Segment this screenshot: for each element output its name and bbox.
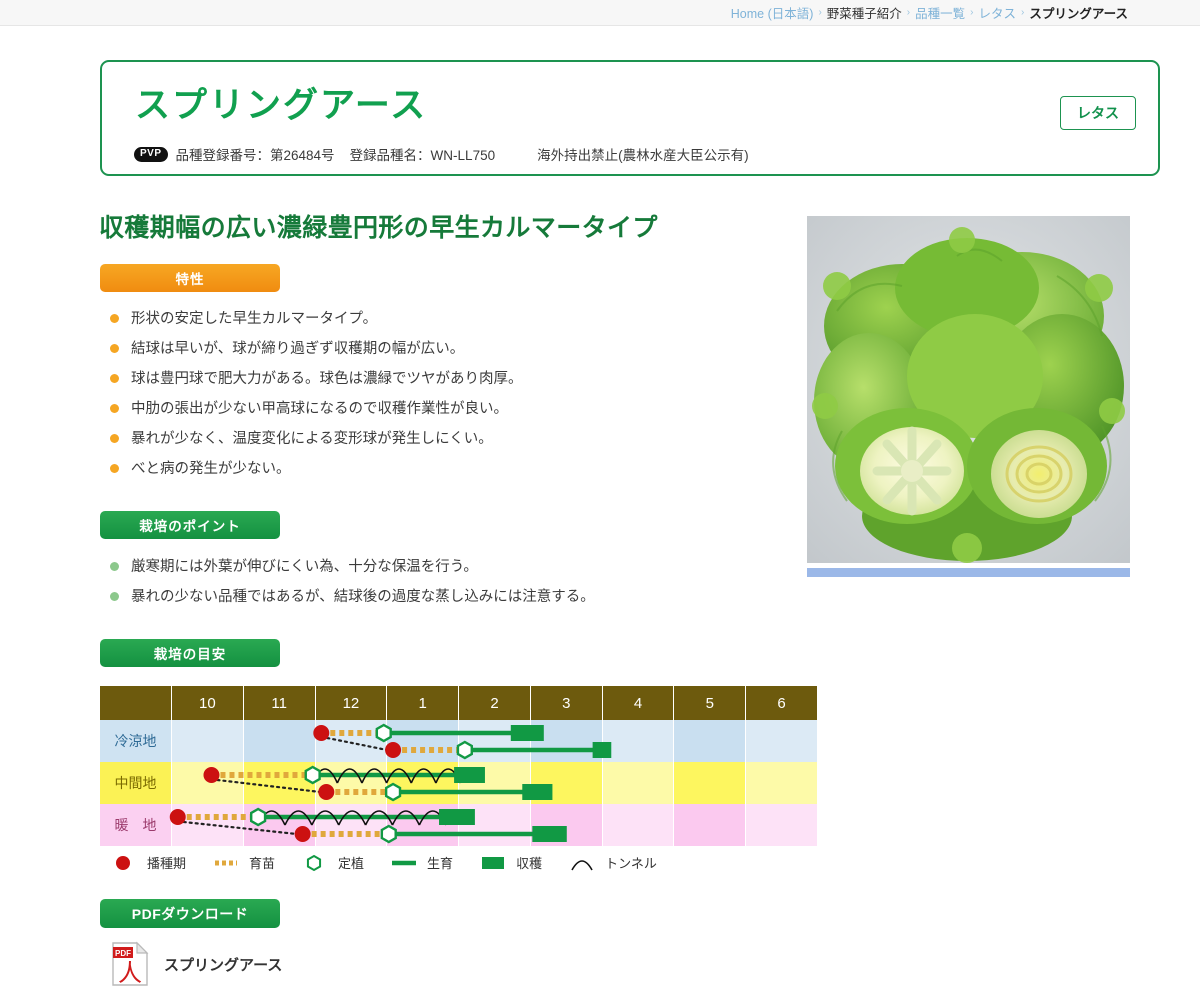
legend-label: トンネル [605, 853, 657, 872]
pvp-badge: PVP [134, 147, 168, 162]
tag-characteristics: 特性 [100, 264, 280, 292]
list-item-text: 結球は早いが、球が締り過ぎず収穫期の幅が広い。 [131, 339, 464, 359]
breadcrumb-item-0[interactable]: Home (日本語) [731, 3, 814, 22]
list-item-text: 厳寒期には外葉が伸びにくい為、十分な保温を行う。 [131, 557, 478, 577]
calendar-month-header-10: 10 [172, 686, 244, 720]
list-item: 中肋の張出が少ない甲高球になるので収穫作業性が良い。 [104, 399, 523, 429]
bullet-dot-icon [110, 562, 119, 571]
breadcrumb-separator: › [970, 7, 973, 18]
list-item: 形状の安定した早生カルマータイプ。 [104, 309, 523, 339]
breadcrumb-separator: › [1021, 7, 1024, 18]
calendar-cell [531, 720, 603, 762]
calendar-cell [674, 804, 746, 846]
list-item-text: 中肋の張出が少ない甲高球になるので収穫作業性が良い。 [131, 399, 508, 419]
list-item: 結球は早いが、球が締り過ぎず収穫期の幅が広い。 [104, 339, 523, 369]
list-item: 厳寒期には外葉が伸びにくい為、十分な保温を行う。 [104, 557, 595, 587]
lettuce-photo-illustration [807, 216, 1130, 563]
tag-cultivation-calendar: 栽培の目安 [100, 639, 280, 667]
legend-label: 収穫 [516, 853, 542, 872]
calendar-cell [674, 720, 746, 762]
bullet-dot-icon [110, 404, 119, 413]
legend-item-green-rect: 収穫 [479, 853, 542, 872]
calendar-cell [674, 762, 746, 804]
calendar-month-header-2: 2 [459, 686, 531, 720]
calendar-legend: 播種期育苗定植生育収穫トンネル [110, 853, 683, 872]
calendar-month-header-4: 4 [603, 686, 675, 720]
breadcrumb-separator: › [907, 7, 910, 18]
breadcrumb-item-4: スプリングアース [1029, 3, 1128, 22]
photo-accent-bar [807, 568, 1130, 577]
calendar-row-label-1: 中間地 [100, 762, 172, 804]
pdf-file-row[interactable]: PDF 人 スプリングアース [110, 941, 282, 987]
calendar-cell [531, 762, 603, 804]
legend-label: 播種期 [147, 853, 186, 872]
orange-dotted-icon [212, 854, 242, 872]
bullet-dot-icon [110, 344, 119, 353]
green-hexagon-icon [301, 854, 331, 872]
registered-variety-name: 登録品種名：WN-LL750 [350, 144, 496, 164]
list-item: 球は豊円球で肥大力がある。球色は濃緑でツヤがあり肉厚。 [104, 369, 523, 399]
calendar-cell [244, 804, 316, 846]
calendar-cell [316, 804, 388, 846]
list-item-text: 暴れの少ない品種ではあるが、結球後の過度な蒸し込みには注意する。 [131, 587, 595, 607]
calendar-month-header-5: 5 [674, 686, 746, 720]
tunnel-arc-icon [568, 854, 598, 872]
calendar-cell [603, 804, 675, 846]
registration-number: 品種登録番号：第26484号 [176, 144, 335, 164]
calendar-cell [459, 804, 531, 846]
green-line-icon [390, 854, 420, 872]
bullet-dot-icon [110, 374, 119, 383]
bullet-dot-icon [110, 314, 119, 323]
calendar-cell [244, 762, 316, 804]
calendar-cell [172, 762, 244, 804]
legend-item-green-hexagon: 定植 [301, 853, 364, 872]
pdf-file-label: スプリングアース [164, 954, 282, 975]
breadcrumb-item-1: 野菜種子紹介 [827, 3, 902, 22]
calendar-row-label-2: 暖 地 [100, 804, 172, 846]
bullet-dot-icon [110, 592, 119, 601]
calendar-corner-cell [100, 686, 172, 720]
registration-meta: PVP 品種登録番号：第26484号 登録品種名：WN-LL750 海外持出禁止… [134, 144, 749, 164]
calendar-cell [531, 804, 603, 846]
calendar-cell [172, 720, 244, 762]
page-title: スプリングアース [135, 77, 427, 128]
characteristics-list: 形状の安定した早生カルマータイプ。結球は早いが、球が締り過ぎず収穫期の幅が広い。… [104, 309, 523, 489]
calendar-cell [746, 720, 818, 762]
list-item-text: 球は豊円球で肥大力がある。球色は濃緑でツヤがあり肉厚。 [131, 369, 523, 389]
legend-label: 生育 [427, 853, 453, 872]
variety-title-card: スプリングアース レタス PVP 品種登録番号：第26484号 登録品種名：WN… [100, 60, 1160, 176]
category-badge[interactable]: レタス [1060, 96, 1136, 130]
calendar-cell [387, 804, 459, 846]
calendar-month-header-3: 3 [531, 686, 603, 720]
breadcrumb: Home (日本語)›野菜種子紹介›品種一覧›レタス›スプリングアース [731, 3, 1128, 22]
breadcrumb-bar: Home (日本語)›野菜種子紹介›品種一覧›レタス›スプリングアース [0, 0, 1200, 26]
calendar-cell [387, 720, 459, 762]
list-item: 暴れの少ない品種ではあるが、結球後の過度な蒸し込みには注意する。 [104, 587, 595, 617]
list-item-text: 暴れが少なく、温度変化による変形球が発生しにくい。 [131, 429, 493, 449]
list-item: 暴れが少なく、温度変化による変形球が発生しにくい。 [104, 429, 523, 459]
list-item-text: 形状の安定した早生カルマータイプ。 [131, 309, 377, 329]
legend-item-red-circle: 播種期 [110, 853, 186, 872]
cultivation-calendar: 101112123456冷涼地中間地暖 地 [100, 686, 818, 846]
calendar-cell [387, 762, 459, 804]
calendar-cell [603, 720, 675, 762]
calendar-cell [459, 762, 531, 804]
calendar-row-label-0: 冷涼地 [100, 720, 172, 762]
product-photo [807, 216, 1130, 563]
svg-text:人: 人 [118, 961, 142, 987]
legend-item-tunnel-arc: トンネル [568, 853, 657, 872]
bullet-dot-icon [110, 434, 119, 443]
list-item-text: べと病の発生が少ない。 [131, 459, 291, 479]
pdf-file-icon: PDF 人 [110, 941, 150, 987]
pdf-download-button[interactable]: PDFダウンロード [100, 899, 280, 928]
legend-label: 育苗 [249, 853, 275, 872]
cultivation-points-list: 厳寒期には外葉が伸びにくい為、十分な保温を行う。暴れの少ない品種ではあるが、結球… [104, 557, 595, 617]
calendar-month-header-1: 1 [387, 686, 459, 720]
breadcrumb-item-3[interactable]: レタス [979, 3, 1017, 22]
calendar-cell [746, 762, 818, 804]
section-headline: 収穫期幅の広い濃緑豊円形の早生カルマータイプ [99, 208, 789, 244]
tag-cultivation-points: 栽培のポイント [100, 511, 280, 539]
green-rect-icon [479, 854, 509, 872]
calendar-cell [316, 762, 388, 804]
red-circle-icon [110, 854, 140, 872]
calendar-cell [316, 720, 388, 762]
calendar-cell [746, 804, 818, 846]
breadcrumb-item-2[interactable]: 品種一覧 [915, 3, 965, 22]
breadcrumb-separator: › [818, 7, 821, 18]
legend-item-green-line: 生育 [390, 853, 453, 872]
legend-label: 定植 [338, 853, 364, 872]
list-item: べと病の発生が少ない。 [104, 459, 523, 489]
legend-item-orange-dotted: 育苗 [212, 853, 275, 872]
calendar-cell [459, 720, 531, 762]
calendar-cell [244, 720, 316, 762]
export-restriction-note: 海外持出禁止(農林水産大臣公示有) [537, 144, 749, 164]
calendar-month-header-12: 12 [316, 686, 388, 720]
calendar-month-header-11: 11 [244, 686, 316, 720]
calendar-cell [172, 804, 244, 846]
svg-text:PDF: PDF [115, 949, 131, 958]
calendar-cell [603, 762, 675, 804]
calendar-month-header-6: 6 [746, 686, 818, 720]
bullet-dot-icon [110, 464, 119, 473]
